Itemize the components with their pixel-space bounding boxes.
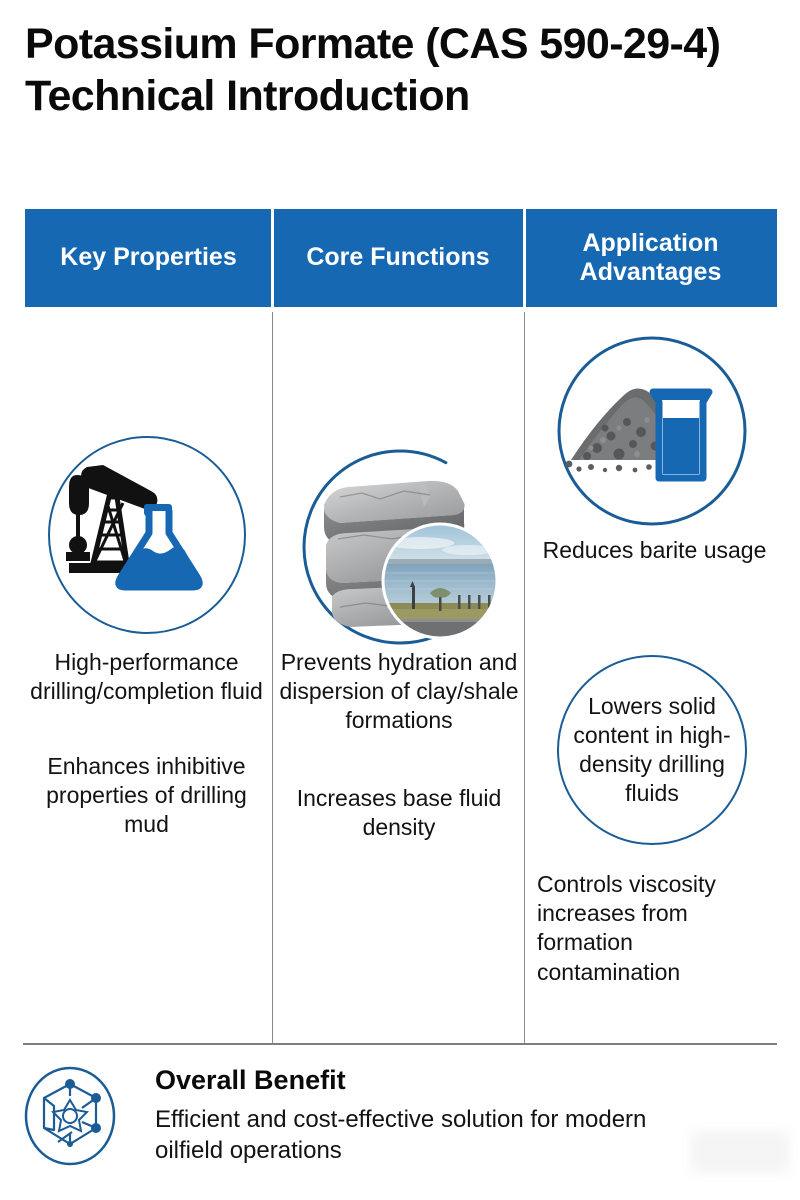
column-header-label: Application Advantages [530, 229, 771, 288]
column-divider-2 [524, 312, 525, 1043]
column-header-application-advantages[interactable]: Application Advantages [524, 209, 777, 307]
core-functions-point-2: Increases base fluid density [278, 784, 520, 842]
oil-pumpjack-flask-icon [47, 435, 247, 635]
barite-powder-beaker-icon [557, 336, 747, 526]
key-properties-point-1: High-performance drilling/completion flu… [25, 648, 268, 706]
key-properties-point-2: Enhances inhibitive properties of drilli… [25, 752, 268, 840]
column-header-label: Core Functions [306, 243, 489, 273]
column-header-core-functions[interactable]: Core Functions [272, 209, 524, 307]
column-header-label: Key Properties [60, 243, 236, 273]
application-advantages-point-2: Lowers solid content in high-density dri… [565, 692, 740, 808]
application-advantages-point-1: Reduces barite usage [532, 536, 777, 565]
application-advantages-point-3: Controls viscosity increases from format… [537, 870, 777, 987]
molecule-network-icon [24, 1066, 116, 1166]
page-title: Potassium Formate (CAS 590-29-4) Technic… [25, 18, 765, 123]
watermark [690, 1130, 790, 1174]
column-header-key-properties[interactable]: Key Properties [25, 209, 272, 307]
column-header-bar: Key Properties Core Functions Applicatio… [25, 209, 777, 307]
column-divider-1 [272, 312, 273, 1043]
shale-rock-stack-icon [300, 447, 500, 647]
overall-benefit-text: Efficient and cost-effective solution fo… [155, 1105, 715, 1166]
overall-benefit-heading: Overall Benefit [155, 1065, 346, 1096]
core-functions-point-1: Prevents hydration and dispersion of cla… [278, 648, 520, 736]
footer-divider [23, 1043, 777, 1045]
infographic-page: Potassium Formate (CAS 590-29-4) Technic… [0, 0, 800, 1200]
application-advantages-point-2-circle: Lowers solid content in high-density dri… [557, 655, 747, 845]
